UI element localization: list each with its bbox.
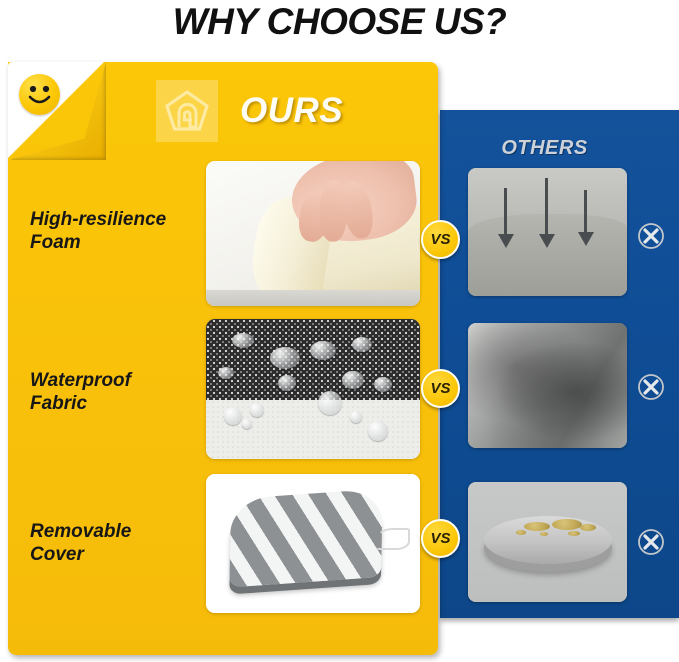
feature-label-1-line2: Foam — [30, 231, 202, 254]
striped-seat-cushion-photo — [206, 474, 420, 613]
vs-badge-1: VS — [421, 220, 460, 259]
stained-round-cushion-photo — [468, 482, 627, 602]
feature-label-1-line1: High-resilience — [30, 208, 202, 231]
circle-x-icon-2 — [637, 373, 665, 401]
ours-feature-image-2 — [206, 319, 420, 459]
feature-label-3-line2: Cover — [30, 543, 202, 566]
ours-feature-image-3 — [206, 474, 420, 613]
page-title: WHY CHOOSE US? — [0, 0, 679, 44]
feature-label-1: High-resilience Foam — [30, 208, 202, 254]
vs-badge-3: VS — [421, 519, 460, 558]
vs-badge-2: VS — [421, 369, 460, 408]
ours-feature-image-1 — [206, 161, 420, 306]
others-feature-image-3 — [468, 482, 627, 602]
feature-label-2-line1: Waterproof — [30, 369, 202, 392]
others-heading: OTHERS — [440, 137, 649, 160]
wet-stained-fabric-photo — [468, 323, 627, 448]
water-beading-mesh-fabric-photo — [206, 319, 420, 459]
feature-label-3: Removable Cover — [30, 520, 202, 566]
feature-label-2: Waterproof Fabric — [30, 369, 202, 415]
others-feature-image-2 — [468, 323, 627, 448]
others-feature-image-1 — [468, 168, 627, 296]
hand-pressing-foam-photo — [206, 161, 420, 306]
house-pentagon-logo-icon — [156, 80, 218, 142]
others-panel: OTHERS — [440, 110, 679, 618]
smiley-face-sticker-icon — [19, 74, 60, 115]
feature-label-2-line2: Fabric — [30, 392, 202, 415]
foam-sinking-arrows-photo — [468, 168, 627, 296]
circle-x-icon-1 — [637, 222, 665, 250]
ours-heading: OURS — [240, 91, 343, 131]
feature-label-3-line1: Removable — [30, 520, 202, 543]
circle-x-icon-3 — [637, 528, 665, 556]
brand-lockup: OURS — [156, 80, 343, 142]
ours-panel: OURS High-resilience Foam Waterproof Fab… — [8, 62, 438, 655]
